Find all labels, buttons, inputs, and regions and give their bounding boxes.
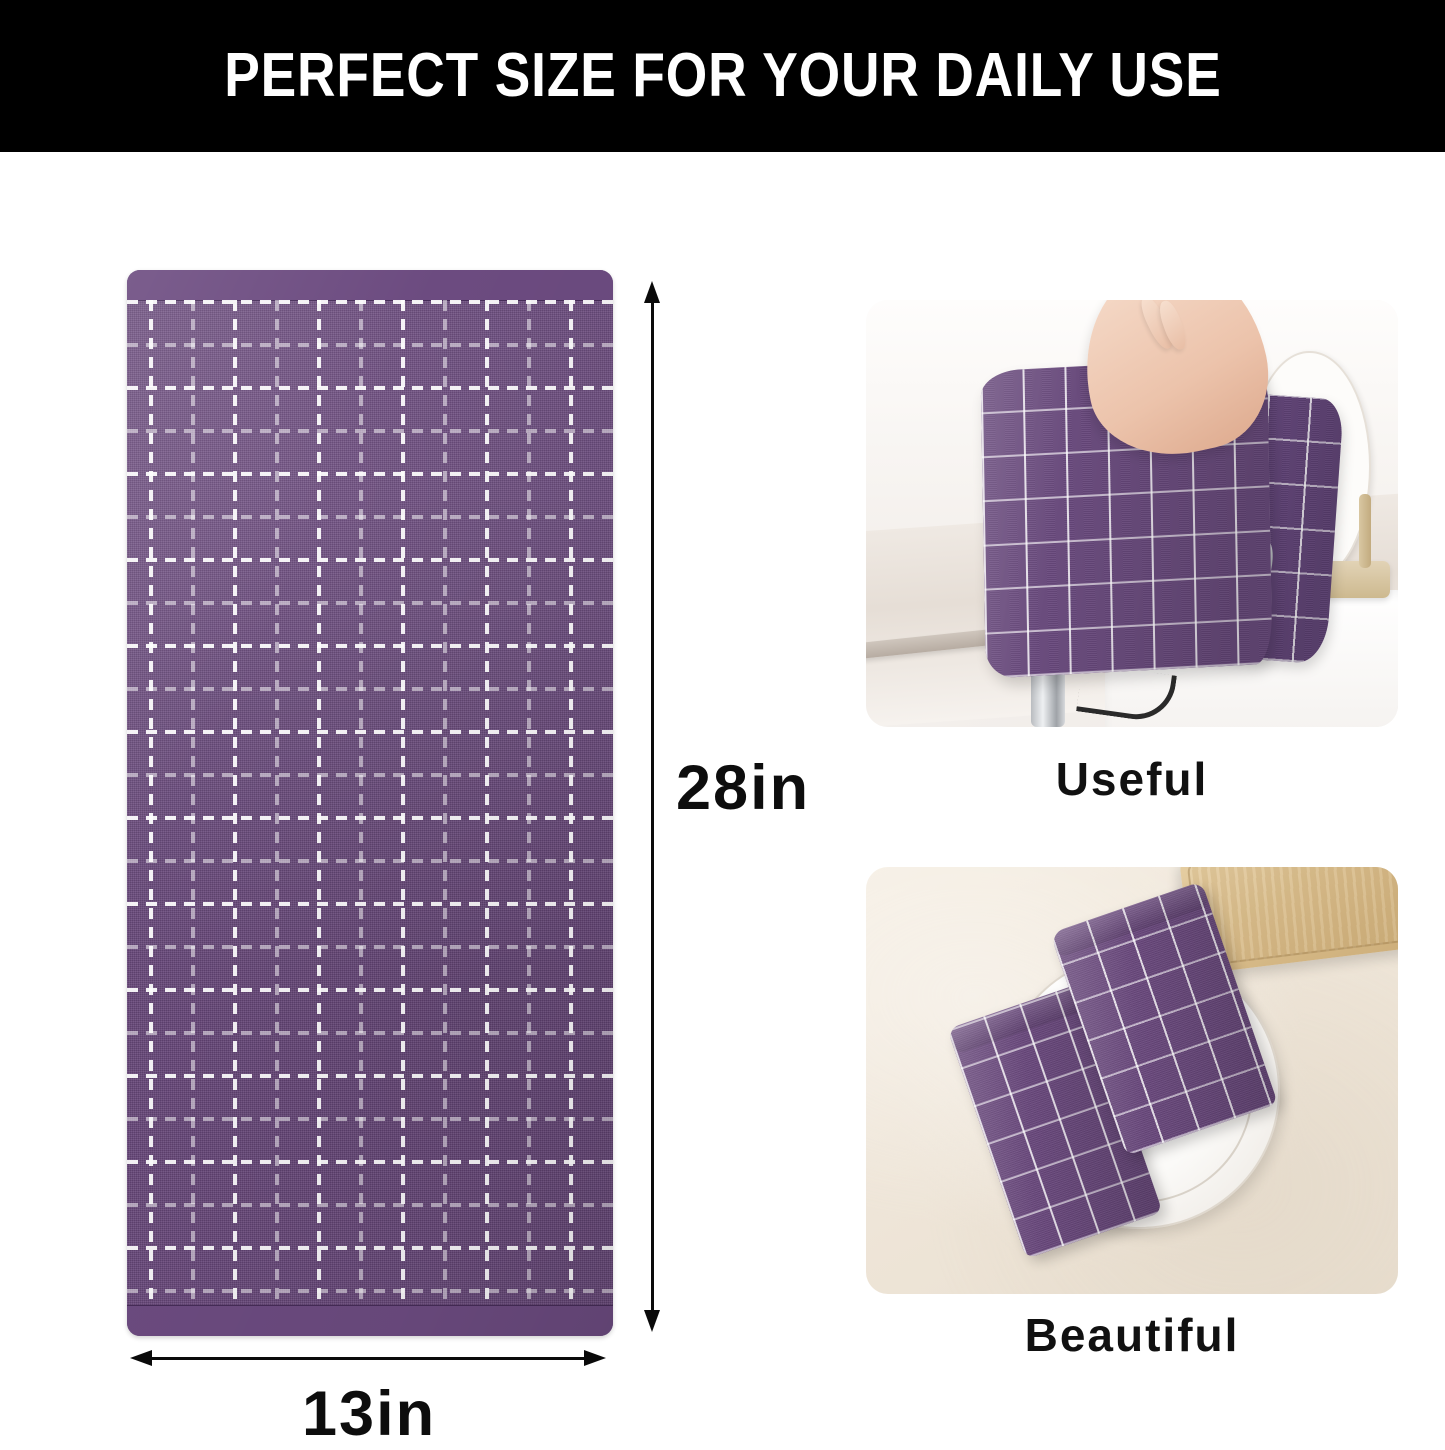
width-dimension-arrow [130, 1350, 606, 1366]
towel-hem-top [127, 270, 613, 301]
height-dimension-label: 28in [676, 752, 810, 824]
banner-title: PERFECT SIZE FOR YOUR DAILY USE [224, 45, 1221, 107]
height-dimension-arrow [644, 281, 660, 1332]
towel-grid-pattern [127, 300, 613, 1306]
photo-panel-useful [866, 300, 1398, 727]
width-dimension-label: 13in [302, 1378, 436, 1450]
photo-panel-beautiful [866, 867, 1398, 1294]
towel-body [127, 270, 613, 1336]
scene-folded-towels [866, 867, 1398, 1294]
arrow-head-right-icon [584, 1350, 606, 1366]
scene-kitchen-faucet [866, 300, 1398, 727]
caption-useful: Useful [866, 752, 1398, 806]
dish-rack-peg [1359, 494, 1371, 568]
header-banner: PERFECT SIZE FOR YOUR DAILY USE [0, 0, 1445, 152]
product-towel-flat [127, 270, 613, 1336]
towel-hem-bottom [127, 1305, 613, 1336]
arrow-head-down-icon [644, 1310, 660, 1332]
arrow-shaft-vertical [651, 297, 654, 1316]
arrow-shaft-horizontal [146, 1357, 590, 1360]
caption-beautiful: Beautiful [866, 1308, 1398, 1362]
